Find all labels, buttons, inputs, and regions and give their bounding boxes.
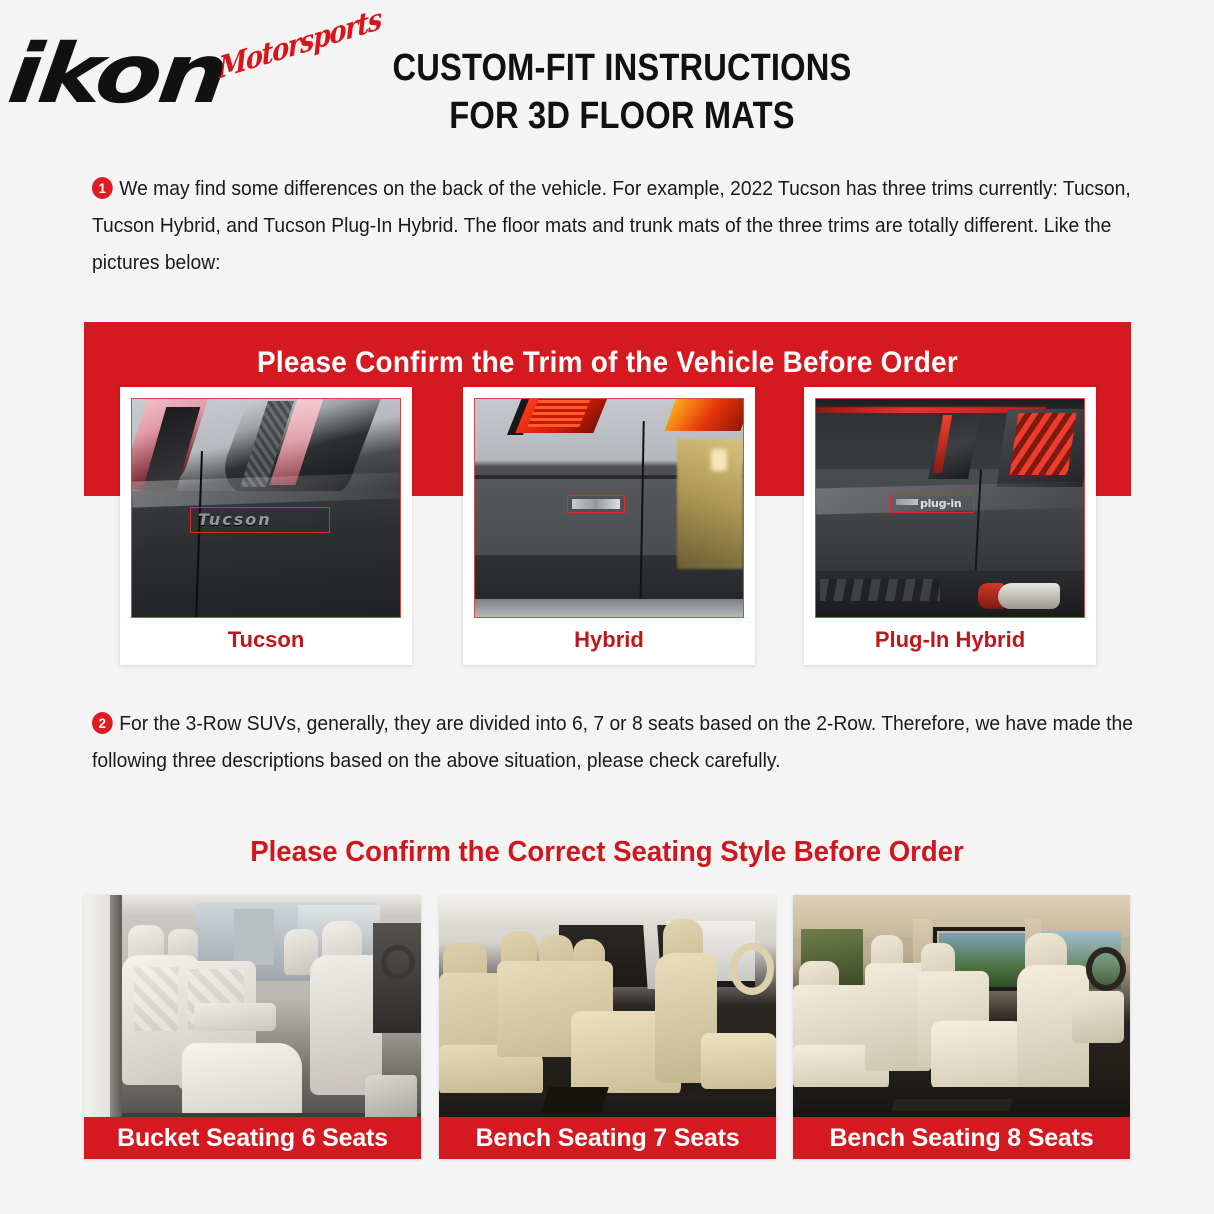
- taillight-right-lens-shape: [1010, 413, 1077, 475]
- seating-caption-bench-8: Bench Seating 8 Seats: [793, 1117, 1130, 1159]
- steering-wheel: [730, 943, 774, 995]
- bumper-reflector: [998, 583, 1060, 609]
- trim-photo-plug-in-hybrid: plug-in: [815, 398, 1085, 618]
- quilting-pattern-left: [134, 967, 184, 1031]
- trim-caption-tucson: Tucson: [131, 618, 401, 662]
- reflection-gold: [677, 439, 743, 569]
- rocker-trim: [475, 599, 743, 617]
- title-line-2: FOR 3D FLOOR MATS: [390, 92, 854, 140]
- seat-rail: [892, 1099, 1013, 1111]
- armrest: [194, 1003, 276, 1031]
- trim-card-row: Tucson Tucson Hybrid: [120, 387, 1095, 672]
- instruction-text-2: For the 3-Row SUVs, generally, they are …: [92, 712, 1133, 772]
- trim-caption-plug-in-hybrid: Plug-In Hybrid: [815, 618, 1085, 662]
- seating-card-bucket-6[interactable]: Bucket Seating 6 Seats: [84, 895, 421, 1159]
- seating-card-bench-8[interactable]: Bench Seating 8 Seats: [793, 895, 1130, 1159]
- instruction-page: ikon Motorsports CUSTOM-FIT INSTRUCTIONS…: [0, 0, 1214, 1214]
- instruction-paragraph-2: 2For the 3-Row SUVs, generally, they are…: [92, 705, 1135, 779]
- trim-caption-hybrid: Hybrid: [474, 618, 744, 662]
- instruction-text-1: We may find some differences on the back…: [92, 177, 1131, 274]
- steering-wheel: [381, 945, 415, 979]
- window-building-shape: [234, 909, 274, 965]
- page-title: CUSTOM-FIT INSTRUCTIONS FOR 3D FLOOR MAT…: [352, 44, 892, 140]
- badge-highlight-box: [890, 495, 974, 513]
- seating-card-bench-7[interactable]: Bench Seating 7 Seats: [439, 895, 776, 1159]
- badge-highlight-box: [190, 507, 330, 533]
- seating-caption-bench-7: Bench Seating 7 Seats: [439, 1117, 776, 1159]
- brand-logo: ikon Motorsports: [14, 26, 374, 121]
- seating-caption-bucket-6: Bucket Seating 6 Seats: [84, 1117, 421, 1159]
- trim-card-tucson[interactable]: Tucson Tucson: [120, 387, 412, 665]
- bumper-vents: [820, 579, 940, 601]
- front-cushion: [701, 1033, 776, 1089]
- seat-pedestal: [541, 1087, 608, 1113]
- page-header: ikon Motorsports CUSTOM-FIT INSTRUCTIONS…: [0, 0, 1214, 150]
- logo-wordmark: ikon: [4, 34, 229, 116]
- trim-card-plug-in-hybrid[interactable]: plug-in Plug-In Hybrid: [804, 387, 1096, 665]
- trim-card-hybrid[interactable]: Hybrid: [463, 387, 755, 665]
- badge-highlight-box: [567, 495, 625, 513]
- steering-wheel: [1086, 947, 1126, 991]
- trim-banner-text: Please Confirm the Trim of the Vehicle B…: [121, 346, 1095, 380]
- step-number-badge-1: 1: [92, 177, 113, 199]
- seating-card-row: Bucket Seating 6 Seats: [84, 895, 1131, 1161]
- instruction-paragraph-1: 1We may find some differences on the bac…: [92, 170, 1135, 281]
- front-seat: [310, 955, 382, 1095]
- reflection-glint: [711, 449, 727, 471]
- trim-photo-hybrid: [474, 398, 744, 618]
- title-line-1: CUSTOM-FIT INSTRUCTIONS: [390, 44, 854, 92]
- center-console: [1072, 991, 1124, 1043]
- step-number-badge-2: 2: [92, 712, 113, 734]
- taillight-right-shape: [664, 398, 744, 431]
- rear-glass: [816, 413, 1014, 469]
- trim-photo-tucson: Tucson: [131, 398, 401, 618]
- seating-heading: Please Confirm the Correct Seating Style…: [30, 836, 1183, 869]
